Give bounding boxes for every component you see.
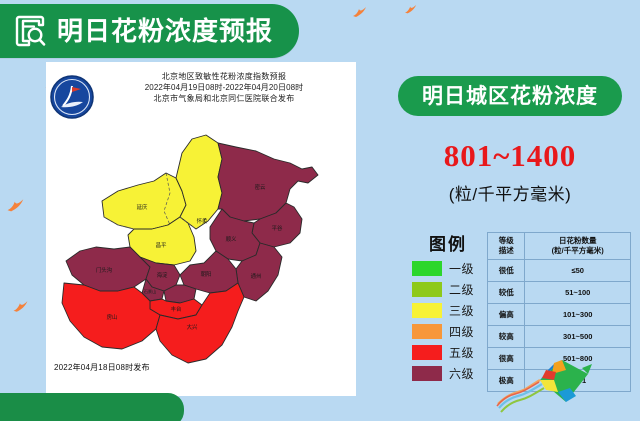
map-title-line2: 2022年04月19日08时-2022年04月20日08时 xyxy=(98,82,350,93)
map-svg: 延庆 昌平 怀柔 密云 平谷 顺义 门头沟 海淀 朝阳 石景山 通州 丰台 房山… xyxy=(46,133,356,381)
district-label: 通州 xyxy=(251,272,262,280)
map-title-line1: 北京地区致敏性花粉浓度指数预报 xyxy=(98,71,350,82)
cell-desc: 很高 xyxy=(488,348,525,370)
legend-title: 图例 xyxy=(412,230,484,255)
district-label: 石景山 xyxy=(144,288,157,295)
concentration-unit: (粒/千平方毫米) xyxy=(398,180,622,205)
header-line2: (粒/千平方毫米) xyxy=(525,246,630,256)
table-row: 较低 51~100 xyxy=(488,282,631,304)
table-row: 较高 301~500 xyxy=(488,326,631,348)
legend-item[interactable]: 三级 xyxy=(412,301,484,320)
cell-amount: 301~500 xyxy=(525,326,631,348)
bird-icon xyxy=(12,300,30,315)
legend-swatch xyxy=(412,261,442,276)
district-label: 顺义 xyxy=(226,236,237,243)
header-line1: 等级 xyxy=(488,236,524,246)
table-row: 偏高 101~300 xyxy=(488,304,631,326)
header-cell-pollen-amount: 日花粉数量 (粒/千平方毫米) xyxy=(525,233,631,260)
legend-item[interactable]: 四级 xyxy=(412,322,484,341)
cell-desc: 很低 xyxy=(488,260,525,282)
district-label: 怀柔 xyxy=(197,217,208,225)
legend-swatch xyxy=(412,366,442,381)
legend: 图例 一级 二级 三级 四级 五级 六级 xyxy=(412,230,484,385)
district-label: 丰台 xyxy=(171,305,182,313)
legend-item[interactable]: 一级 xyxy=(412,259,484,278)
legend-item[interactable]: 二级 xyxy=(412,280,484,299)
table-row: 很高 501~800 xyxy=(488,348,631,370)
district-label: 密云 xyxy=(255,183,266,191)
cell-desc: 较高 xyxy=(488,326,525,348)
table-header-row: 等级 描述 日花粉数量 (粒/千平方毫米) xyxy=(488,233,631,260)
legend-label: 二级 xyxy=(449,281,474,298)
level-table: 等级 描述 日花粉数量 (粒/千平方毫米) 很低 ≤50 较低 51~100 偏… xyxy=(487,232,631,392)
legend-item[interactable]: 六级 xyxy=(412,364,484,383)
district-label: 房山 xyxy=(107,313,118,321)
cell-amount: 501~800 xyxy=(525,348,631,370)
legend-item[interactable]: 五级 xyxy=(412,343,484,362)
district-label: 大兴 xyxy=(187,323,198,331)
header-cell-level-desc: 等级 描述 xyxy=(488,233,525,260)
cell-amount: ≤50 xyxy=(525,260,631,282)
meteorological-bureau-emblem-icon xyxy=(50,75,94,119)
cell-desc: 较低 xyxy=(488,282,525,304)
legend-label: 三级 xyxy=(449,302,474,319)
cell-amount: 51~100 xyxy=(525,282,631,304)
header-line1: 日花粉数量 xyxy=(525,236,630,246)
concentration-value: 801~1400 xyxy=(398,138,622,174)
legend-label: 四级 xyxy=(449,323,474,340)
district-label: 朝阳 xyxy=(201,270,212,278)
legend-swatch xyxy=(412,345,442,360)
district-label: 海淀 xyxy=(157,271,168,279)
district-label: 延庆 xyxy=(137,203,148,211)
screenshot-stage: 明日花粉浓度预报 北京地区致敏性花粉浓度指数预报 2022年04月19日08时-… xyxy=(0,0,640,421)
map-header: 北京地区致敏性花粉浓度指数预报 2022年04月19日08时-2022年04月2… xyxy=(46,62,356,133)
table-row: 很低 ≤50 xyxy=(488,260,631,282)
bird-icon xyxy=(6,198,26,215)
map-issue-time: 2022年04月18日08时发布 xyxy=(54,362,150,373)
concentration-pill-label: 明日城区花粉浓度 xyxy=(422,86,598,107)
cell-amount: 101~300 xyxy=(525,304,631,326)
cell-desc: 偏高 xyxy=(488,304,525,326)
table-row: 极高 >801 xyxy=(488,370,631,392)
map-title-block: 北京地区致敏性花粉浓度指数预报 2022年04月19日08时-2022年04月2… xyxy=(98,71,350,104)
legend-swatch xyxy=(412,282,442,297)
district-label: 门头沟 xyxy=(96,266,112,274)
page-banner: 明日花粉浓度预报 xyxy=(0,4,299,58)
map-title-line3: 北京市气象局和北京同仁医院联合发布 xyxy=(98,93,350,104)
beijing-district-map[interactable]: 延庆 昌平 怀柔 密云 平谷 顺义 门头沟 海淀 朝阳 石景山 通州 丰台 房山… xyxy=(46,133,356,381)
legend-label: 六级 xyxy=(449,365,474,382)
banner-title: 明日花粉浓度预报 xyxy=(57,18,273,44)
bottom-accent-bar xyxy=(0,393,184,421)
header-line2: 描述 xyxy=(488,246,524,256)
legend-label: 五级 xyxy=(449,344,474,361)
cell-amount: >801 xyxy=(525,370,631,392)
bird-icon xyxy=(352,6,368,20)
concentration-pill: 明日城区花粉浓度 xyxy=(398,76,622,116)
legend-label: 一级 xyxy=(449,260,474,277)
map-card: 北京地区致敏性花粉浓度指数预报 2022年04月19日08时-2022年04月2… xyxy=(46,62,356,396)
district-label: 平谷 xyxy=(272,224,283,232)
cell-desc: 极高 xyxy=(488,370,525,392)
legend-swatch xyxy=(412,303,442,318)
legend-swatch xyxy=(412,324,442,339)
district-label: 昌平 xyxy=(156,242,167,249)
bird-icon xyxy=(404,4,418,16)
document-search-icon xyxy=(14,14,48,48)
